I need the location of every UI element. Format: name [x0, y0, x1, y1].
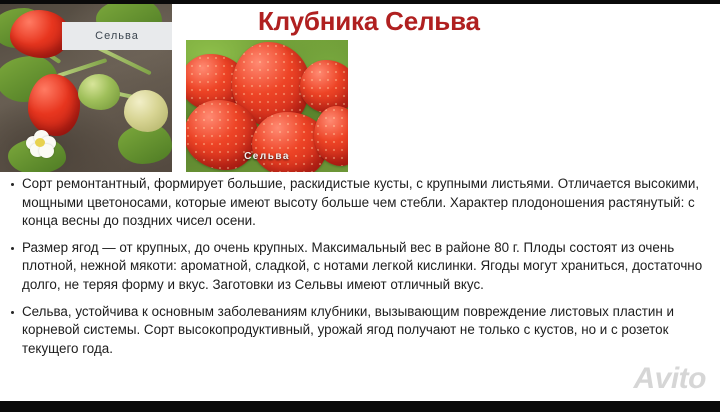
strawberry-closeup-photo: Сельва [186, 40, 348, 172]
list-item: Размер ягод — от крупных, до очень крупн… [0, 239, 720, 295]
list-item: Сорт ремонтантный, формирует большие, ра… [0, 175, 720, 231]
description-content: Сорт ремонтантный, формирует большие, ра… [0, 175, 720, 366]
header-region: Сельва Сельва Клубника Сельва [0, 4, 720, 172]
red-berry [28, 74, 80, 136]
photo-caption-overlay: Сельва [186, 151, 348, 162]
page-title: Клубника Сельва [258, 6, 480, 37]
list-item: Сельва, устойчива к основным заболевания… [0, 303, 720, 359]
avito-watermark: Avito [634, 362, 707, 396]
pale-berry [124, 90, 168, 132]
strawberry-flower [26, 130, 56, 158]
green-berry [78, 74, 120, 110]
slide-page: Сельва Сельва Клубника Сельва Сорт ремон… [0, 0, 720, 412]
strawberry-bed-photo: Сельва [0, 4, 172, 172]
photo-caption-plate: Сельва [62, 22, 172, 50]
bottom-letterbox-bar [0, 401, 720, 412]
red-berry [10, 10, 70, 58]
bullet-list: Сорт ремонтантный, формирует большие, ра… [0, 175, 720, 358]
